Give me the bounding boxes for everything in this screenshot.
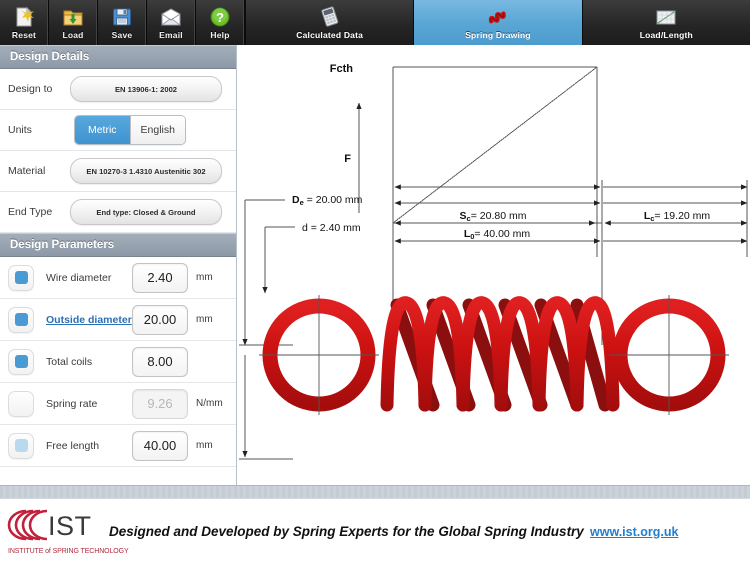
floppy-disk-icon	[111, 6, 133, 28]
save-label: Save	[112, 30, 133, 40]
wire-diameter-checkbox[interactable]	[8, 265, 34, 291]
force-axis-label: F	[344, 153, 351, 165]
tab-spring-drawing[interactable]: Spring Drawing	[413, 0, 581, 45]
top-toolbar: Reset Load	[0, 0, 750, 45]
tab-load-length-label: Load/Length	[640, 30, 693, 40]
param-row-total-coils: Total coils 8.00	[0, 341, 236, 383]
ist-logo: IST INSTITUTE of SPRING TECHNOLOGY	[0, 508, 105, 555]
line-chart-icon	[654, 6, 678, 28]
right-end-circle	[609, 295, 729, 415]
outside-diameter-dim-label: De = 20.00 mm	[292, 194, 363, 207]
website-link[interactable]: www.ist.org.uk	[590, 525, 750, 539]
email-label: Email	[159, 30, 183, 40]
param-row-outside-diameter: Outside diameter 20.00 mm	[0, 299, 236, 341]
force-peak-label: Fcth	[330, 63, 354, 75]
outside-diameter-label[interactable]: Outside diameter	[46, 314, 132, 326]
end-type-select[interactable]: End type: Closed & Ground	[70, 199, 222, 225]
left-sidebar: Design Details Design to EN 13906-1: 200…	[0, 45, 237, 485]
tab-calculated-data[interactable]: Calculated Data	[245, 0, 413, 45]
left-end-circle	[259, 295, 379, 415]
l0-dim-label: L0= 40.00 mm	[464, 228, 531, 241]
total-coils-checkbox[interactable]	[8, 349, 34, 375]
total-coils-input[interactable]: 8.00	[132, 347, 188, 377]
outside-diameter-unit: mm	[196, 314, 228, 325]
help-label: Help	[210, 30, 229, 40]
spring-rate-input: 9.26	[132, 389, 188, 419]
material-select[interactable]: EN 10270-3 1.4310 Austenitic 302	[70, 158, 222, 184]
param-row-spring-rate: Spring rate 9.26 N/mm	[0, 383, 236, 425]
lc-dim-label: Lc= 19.20 mm	[644, 210, 711, 223]
svg-text:?: ?	[216, 10, 224, 25]
param-row-free-length: Free length 40.00 mm	[0, 425, 236, 467]
sc-dim-label: Sc= 20.80 mm	[460, 210, 527, 223]
units-label: Units	[8, 124, 70, 136]
app-window: Reset Load	[0, 0, 750, 563]
units-option-english[interactable]: English	[130, 116, 186, 144]
spring-icon	[485, 6, 511, 28]
free-length-unit: mm	[196, 440, 228, 451]
spring-rate-unit: N/mm	[196, 398, 228, 409]
free-length-checkbox[interactable]	[8, 433, 34, 459]
spring-drawing-svg: Fcth F De = 20.00 mm d = 2.40 mm Sc= 20.…	[237, 45, 750, 485]
tab-calculated-data-label: Calculated Data	[296, 30, 363, 40]
panel-divider	[0, 485, 750, 499]
wire-diameter-dim-label: d = 2.40 mm	[302, 222, 361, 234]
units-option-metric[interactable]: Metric	[75, 116, 130, 144]
outside-diameter-input[interactable]: 20.00	[132, 305, 188, 335]
reset-label: Reset	[12, 30, 36, 40]
load-label: Load	[62, 30, 83, 40]
design-to-select[interactable]: EN 13906-1: 2002	[70, 76, 222, 102]
svg-text:IST: IST	[48, 511, 92, 541]
wire-diameter-unit: mm	[196, 272, 228, 283]
email-button[interactable]: Email	[147, 0, 196, 45]
save-button[interactable]: Save	[98, 0, 147, 45]
ist-logo-subtitle: INSTITUTE of SPRING TECHNOLOGY	[6, 548, 105, 555]
free-length-label: Free length	[46, 440, 132, 452]
help-button[interactable]: ? Help	[196, 0, 245, 45]
design-details-header: Design Details	[0, 45, 236, 69]
units-row: Units Metric English	[0, 110, 236, 151]
total-coils-label: Total coils	[46, 356, 132, 368]
question-mark-icon: ?	[209, 6, 231, 28]
material-label: Material	[8, 165, 70, 177]
spring-drawing-canvas: Fcth F De = 20.00 mm d = 2.40 mm Sc= 20.…	[237, 45, 750, 485]
wire-diameter-input[interactable]: 2.40	[132, 263, 188, 293]
design-parameters-header: Design Parameters	[0, 233, 236, 257]
wire-diameter-label: Wire diameter	[46, 272, 132, 284]
load-button[interactable]: Load	[49, 0, 98, 45]
view-tabs: Calculated Data Spring Drawing	[245, 0, 750, 45]
param-row-wire-diameter: Wire diameter 2.40 mm	[0, 257, 236, 299]
footer-tagline: Designed and Developed by Spring Experts…	[105, 524, 590, 539]
outside-diameter-checkbox[interactable]	[8, 307, 34, 333]
spring-rate-checkbox[interactable]	[8, 391, 34, 417]
tab-spring-drawing-label: Spring Drawing	[465, 30, 531, 40]
design-to-label: Design to	[8, 83, 70, 95]
units-segmented-control[interactable]: Metric English	[74, 115, 186, 145]
material-row: Material EN 10270-3 1.4310 Austenitic 30…	[0, 151, 236, 192]
design-to-row: Design to EN 13906-1: 2002	[0, 69, 236, 110]
calculator-icon	[318, 6, 342, 28]
footer-bar: IST INSTITUTE of SPRING TECHNOLOGY Desig…	[0, 498, 750, 564]
reset-button[interactable]: Reset	[0, 0, 49, 45]
open-folder-icon	[62, 6, 84, 28]
new-document-icon	[13, 6, 35, 28]
envelope-icon	[160, 6, 182, 28]
spring-coils	[387, 303, 617, 405]
free-length-input[interactable]: 40.00	[132, 431, 188, 461]
end-type-row: End Type End type: Closed & Ground	[0, 192, 236, 233]
end-type-label: End Type	[8, 206, 70, 218]
ist-logo-icon: IST	[6, 508, 106, 542]
tab-load-length[interactable]: Load/Length	[582, 0, 750, 45]
spring-rate-label: Spring rate	[46, 398, 132, 410]
